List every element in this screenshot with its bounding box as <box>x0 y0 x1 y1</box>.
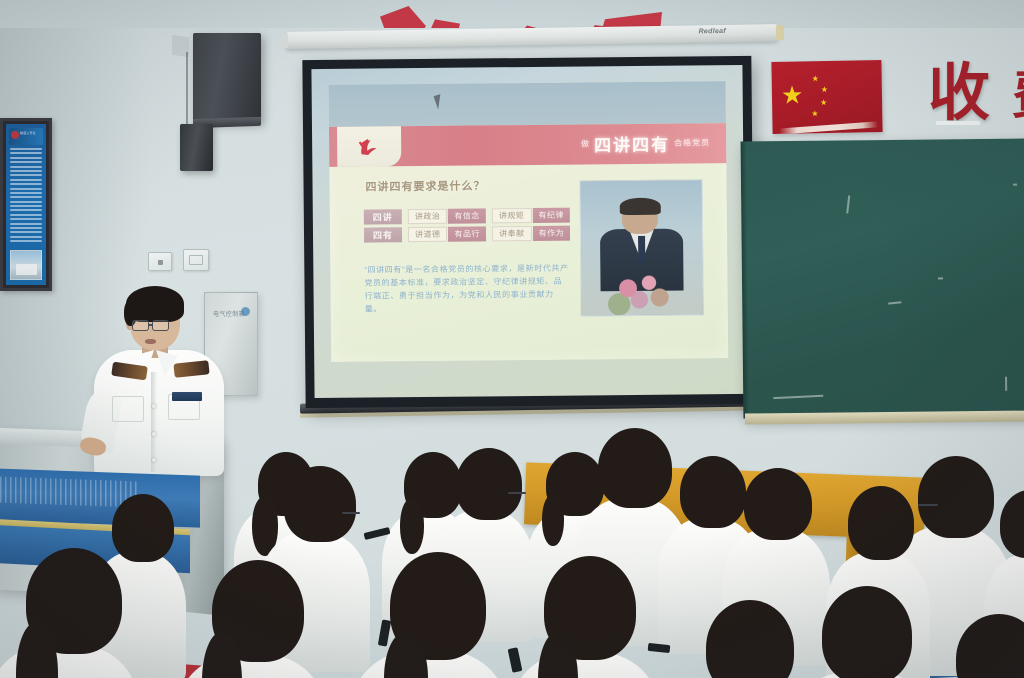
slide-header-title: 四讲四有 <box>594 131 670 157</box>
chalk-mark <box>888 301 901 304</box>
speaker-shirt-placket <box>151 372 157 472</box>
portrait-hair <box>619 198 660 216</box>
eyeglasses-bridge <box>149 324 153 326</box>
eyeglasses-icon <box>508 492 526 494</box>
slide-question-title: 四讲四有要求是什么？ <box>365 177 485 194</box>
table-cell: 有纪律 <box>532 207 570 222</box>
table-row-key: 四有 <box>364 227 402 242</box>
student-head <box>822 586 912 678</box>
flag-star-small: ★ <box>811 110 818 118</box>
speaker-mouth <box>145 339 156 344</box>
slide-body: 四讲四有要求是什么？ 四讲 讲政治 有信念 讲规矩 有纪律 <box>330 163 728 362</box>
notice-poster-text <box>9 148 43 242</box>
table-row-key: 四讲 <box>364 209 402 224</box>
green-chalkboard <box>741 138 1024 418</box>
presentation-slide: 做 四讲四有 合格党员 四讲四有要求是什么？ 四讲 讲政治 有信念 <box>329 82 728 362</box>
roller-end-cap-left <box>281 33 288 48</box>
table-cell-pair: 讲规矩 有纪律 <box>492 207 570 223</box>
uniformed-speaker <box>86 286 236 476</box>
chalk-mark <box>773 395 823 399</box>
table-cell-pair: 讲政治 有信念 <box>408 208 486 224</box>
table-cell: 有信念 <box>448 208 486 223</box>
eyeglasses-icon <box>918 504 938 506</box>
shirt-button <box>152 432 156 436</box>
student-head <box>848 486 914 560</box>
table-cell: 讲奉献 <box>492 226 532 241</box>
party-hammer-sickle-icon <box>346 133 392 160</box>
party-emblem-badge <box>337 126 401 167</box>
shirt-button <box>152 458 156 462</box>
flag-star-small: ★ <box>812 75 819 83</box>
slide-top-strip <box>329 82 726 127</box>
slide-header-text: 做 四讲四有 合格党员 <box>581 123 710 164</box>
student-head <box>456 448 522 520</box>
portrait-tie <box>638 236 646 263</box>
wall-notice-poster: 制度公开栏 <box>0 118 52 291</box>
student-head <box>598 428 672 508</box>
speaker-name-badge <box>172 392 202 401</box>
slide-header-banner: 做 四讲四有 合格党员 <box>329 123 726 167</box>
power-outlet-plate[interactable] <box>183 249 209 271</box>
table-cell: 讲道德 <box>408 227 448 242</box>
classroom-photo-scene: 制度公开栏 电气控制箱 Redleaf <box>0 0 1024 678</box>
roller-brand-label: Redleaf <box>699 28 726 35</box>
notice-poster-body: 制度公开栏 <box>6 124 46 285</box>
pen <box>508 647 523 673</box>
student-head <box>918 456 994 538</box>
seat-vent-stripes <box>0 476 140 507</box>
eyeglasses-icon <box>152 320 169 331</box>
projection-screen[interactable]: 做 四讲四有 合格党员 四讲四有要求是什么？ 四讲 讲政治 有信念 <box>302 56 754 408</box>
projection-surface: 做 四讲四有 合格党员 四讲四有要求是什么？ 四讲 讲政治 有信念 <box>311 65 745 398</box>
table-cell-pair: 讲道德 有品行 <box>408 226 486 242</box>
wall-character-1: 收 <box>928 62 990 124</box>
chalk-mark <box>938 277 943 279</box>
chalk-mark <box>1005 377 1007 391</box>
pen <box>648 643 671 653</box>
student-head <box>284 466 356 542</box>
notice-seal-icon <box>11 131 19 139</box>
wall-speaker <box>193 33 261 122</box>
student-ponytail <box>542 494 564 546</box>
slide-header-suffix: 合格党员 <box>674 138 710 149</box>
flag-star-large: ★ <box>781 83 804 108</box>
notice-poster-photo <box>10 250 42 280</box>
flag-fold-highlight <box>772 121 882 134</box>
flag-star-small: ★ <box>820 99 827 107</box>
shirt-button <box>152 404 156 408</box>
chalk-mark <box>1013 184 1017 186</box>
eyeglasses-icon <box>132 320 149 331</box>
flag-star-small: ★ <box>821 86 828 94</box>
table-cell: 讲政治 <box>408 209 448 224</box>
wall-speaker-secondary <box>180 124 213 171</box>
speaker-wire <box>186 52 188 126</box>
cabinet-logo-icon <box>241 307 250 316</box>
student-head <box>680 456 746 528</box>
wall-character-underline <box>936 121 980 125</box>
table-cell: 讲规矩 <box>492 208 532 223</box>
slide-portrait-photo <box>580 179 704 317</box>
wall-character-2: 费 <box>1012 70 1024 122</box>
portrait-flowers <box>606 266 681 316</box>
student-head <box>112 494 174 562</box>
table-cell-pair: 讲奉献 有作为 <box>492 225 570 241</box>
student-head <box>1000 490 1024 558</box>
student-head <box>744 468 812 540</box>
table-cell: 有作为 <box>533 225 571 240</box>
student-ponytail <box>400 498 424 554</box>
table-cell: 有品行 <box>448 226 486 241</box>
table-row: 四有 讲道德 有品行 讲奉献 有作为 <box>364 225 570 242</box>
slide-paragraph: “四讲四有”是一名合格党员的核心要求，是新时代共产党员的基本标准，要求政治坚定、… <box>364 262 571 316</box>
chalk-mark <box>846 195 850 213</box>
roller-end-cap-right <box>776 25 784 40</box>
eyeglasses-icon <box>342 512 360 514</box>
chinese-national-flag: ★ ★ ★ ★ ★ <box>771 60 882 134</box>
slide-header-prefix: 做 <box>581 139 590 150</box>
speaker-pocket-left <box>112 396 144 422</box>
light-switch-plate[interactable] <box>148 252 172 271</box>
table-row: 四讲 讲政治 有信念 讲规矩 有纪律 <box>364 207 570 224</box>
slide-key-table: 四讲 讲政治 有信念 讲规矩 有纪律 四有 <box>364 207 571 245</box>
